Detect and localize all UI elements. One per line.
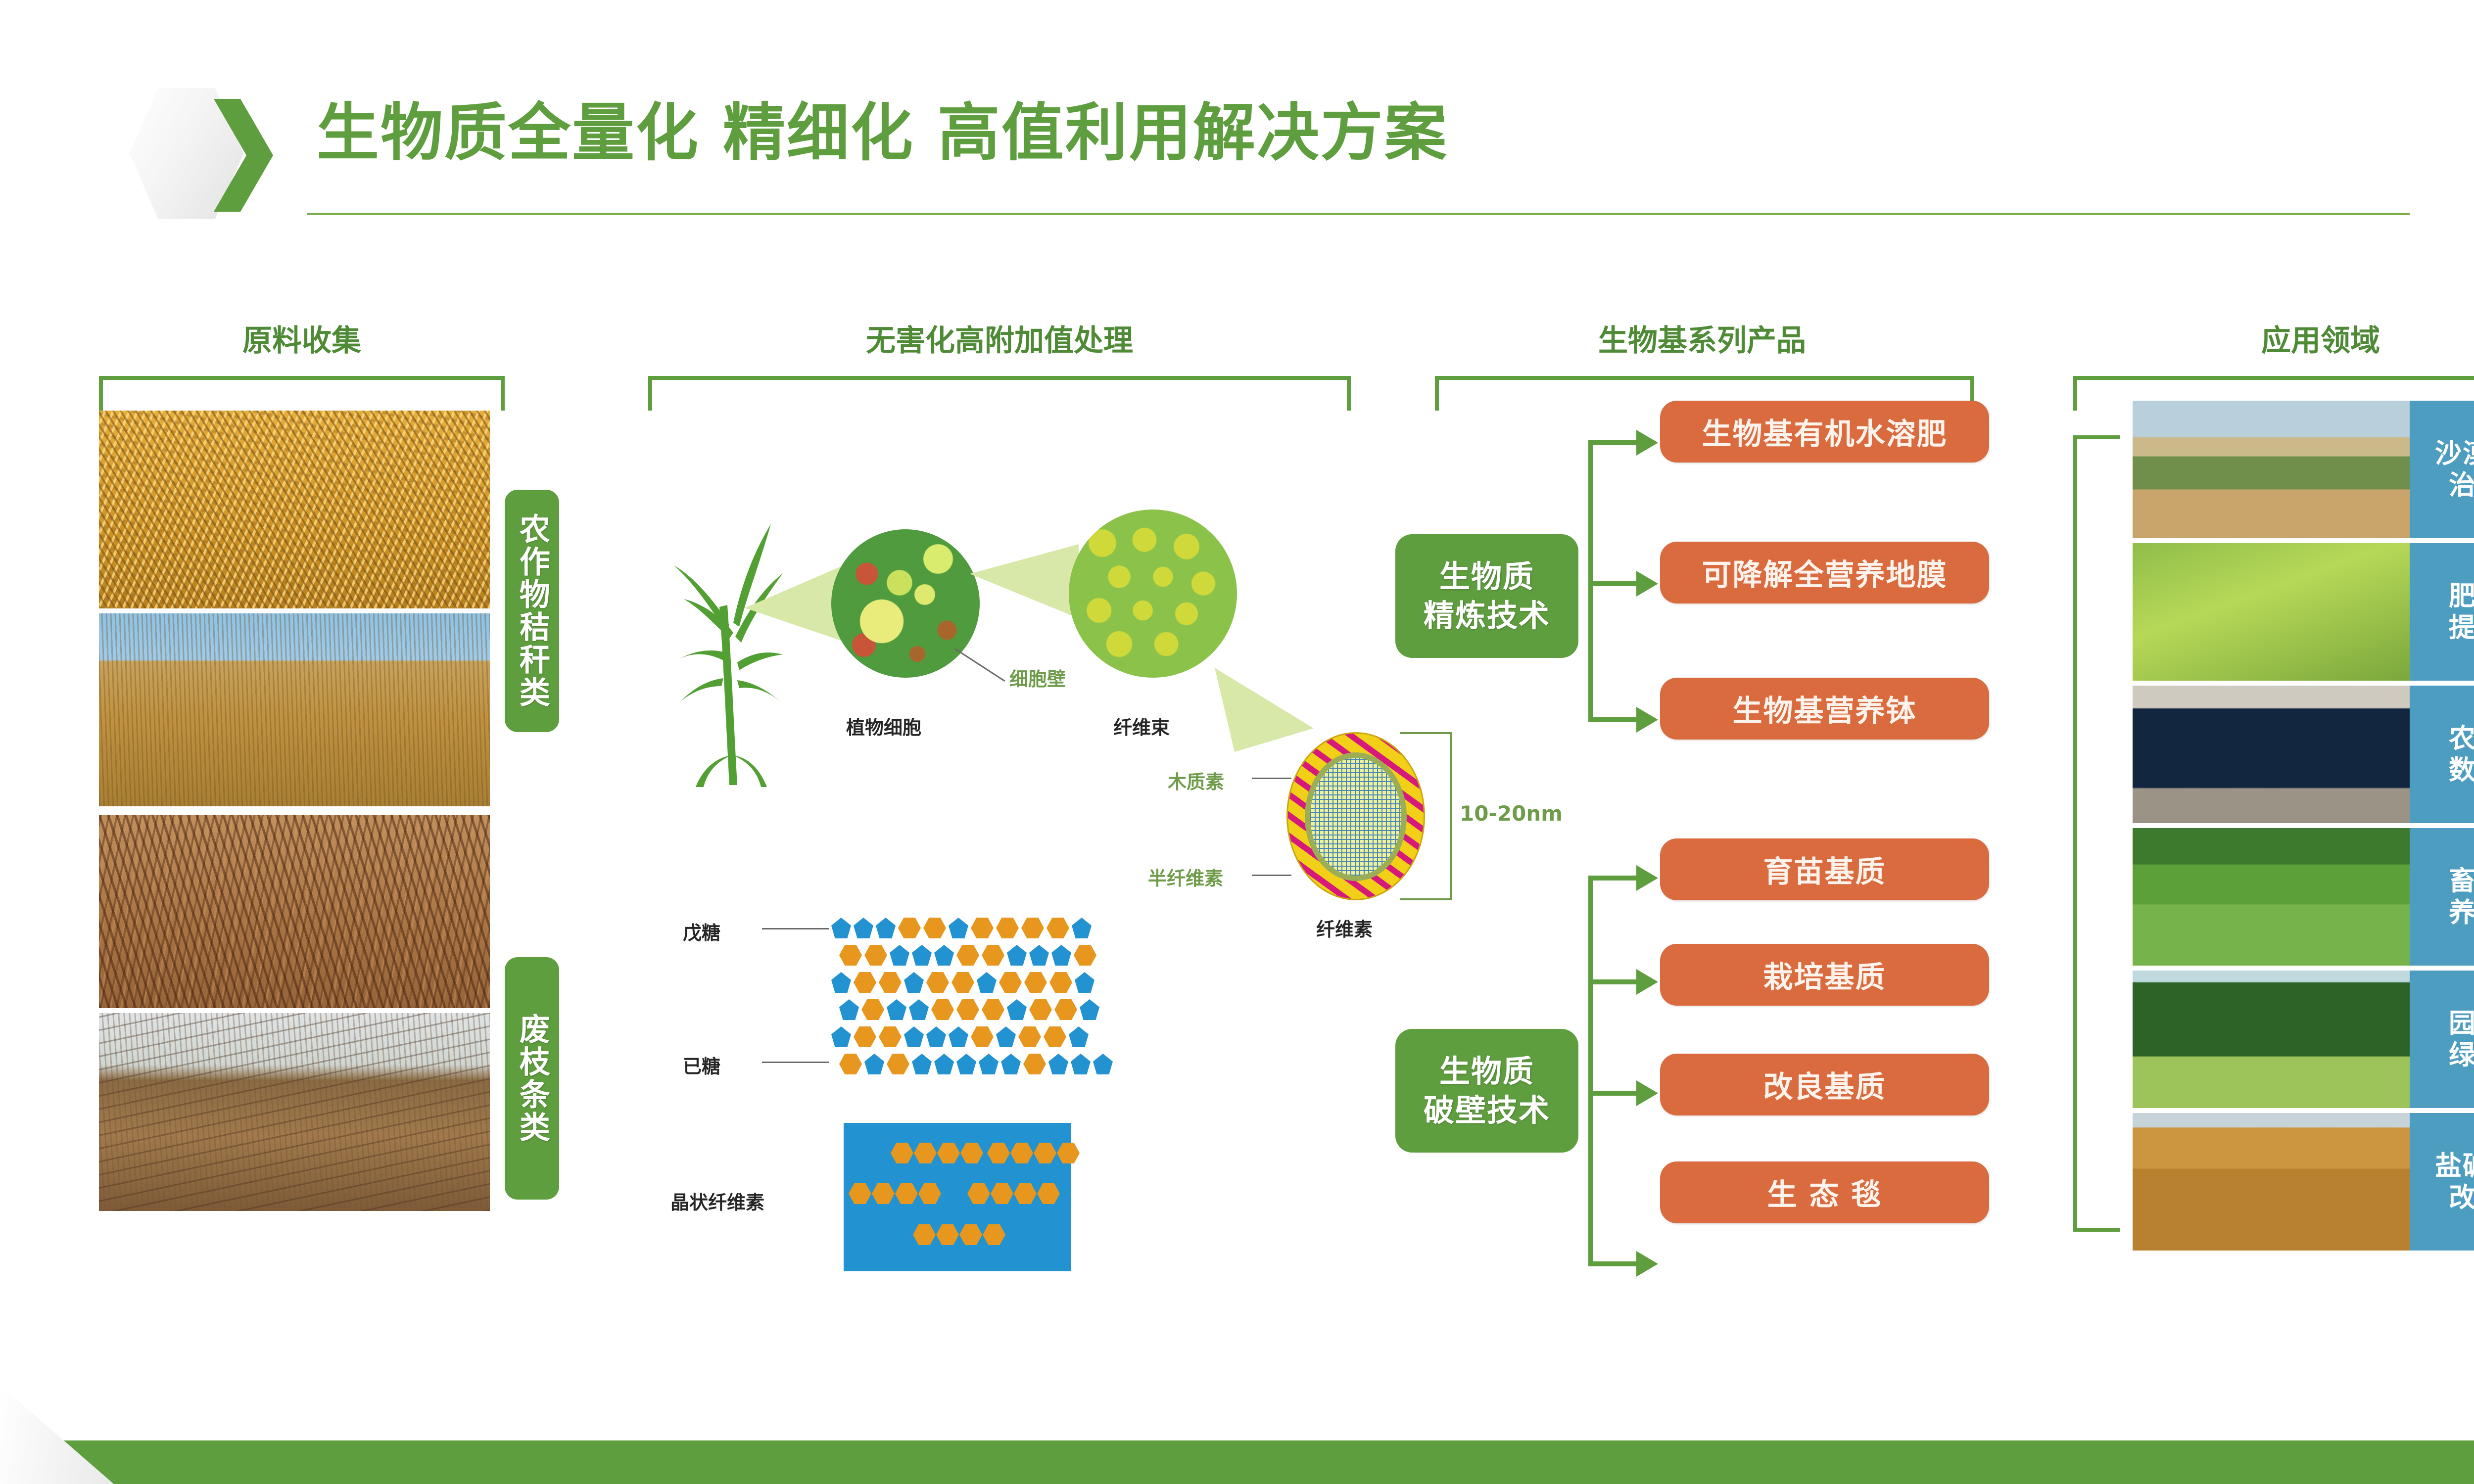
pentose-unit-icon [831, 1026, 851, 1047]
pentose-unit-icon [926, 1026, 946, 1047]
label-cell-wall: 细胞壁 [1009, 664, 1066, 691]
pentose-unit-icon [1007, 945, 1027, 966]
pentose-unit-icon [1001, 1054, 1021, 1074]
connector-branch-wall-1 [1588, 876, 1638, 881]
pentose-unit-icon [1051, 945, 1071, 966]
pentose-unit-icon [909, 999, 929, 1020]
hexose-unit-icon [982, 999, 1004, 1020]
pentose-unit-icon [1075, 972, 1094, 993]
glucose-unit-icon [967, 1183, 990, 1204]
tech-box-biomass-wall-breaking[interactable]: 生物质 破壁技术 [1395, 1029, 1578, 1153]
hexose-unit-icon [1023, 1054, 1046, 1074]
hexose-unit-icon [1029, 999, 1052, 1020]
hexose-unit-icon [887, 1054, 909, 1074]
hexose-unit-icon [952, 972, 974, 993]
pentose-unit-icon [979, 1054, 999, 1074]
glucose-unit-icon [936, 1224, 959, 1245]
magnify-cone-2 [970, 544, 1079, 618]
photo-straw-bale [99, 613, 490, 806]
app-tag-line1: 盐碱地 [2435, 1150, 2474, 1182]
app-tag-line1: 园林 [2449, 1008, 2474, 1039]
application-row-saline-land[interactable]: 盐碱地 改良 [2133, 1113, 2474, 1251]
pentose-unit-icon [956, 1054, 976, 1074]
connector-branch-refining-1 [1588, 440, 1638, 445]
hexose-unit-icon [1049, 972, 1072, 993]
label-plant-cell: 植物细胞 [846, 712, 921, 740]
section-title-products: 生物基系列产品 [1405, 317, 1999, 360]
crystalline-chain-row [913, 1224, 1005, 1245]
tech-box-biomass-refining[interactable]: 生物质 精炼技术 [1395, 534, 1578, 658]
glucose-unit-icon [872, 1183, 895, 1204]
photo-cabbage-field [2133, 543, 2410, 681]
photo-data-control-room [2133, 686, 2410, 823]
glucose-unit-icon [914, 1143, 937, 1163]
process-diagram-column: 细胞壁 植物细胞 纤维束 木质素 半纤维素 纤维素 10-20nm 戊糖 已糖 … [614, 391, 1385, 1331]
pentose-unit-icon [977, 972, 997, 993]
page-title: 生物质全量化 精细化 高值利用解决方案 [317, 99, 1448, 168]
fiber-bundle-illustration [1069, 510, 1237, 678]
pentose-unit-icon [1093, 1054, 1113, 1074]
app-tag-line2: 治理 [2449, 469, 2474, 501]
hexose-unit-icon [982, 945, 1004, 966]
glucose-unit-icon [1014, 1183, 1037, 1204]
hexose-unit-icon [1047, 918, 1069, 938]
hexose-unit-icon [1018, 1026, 1041, 1047]
sugar-chain-row [831, 918, 1092, 938]
pentose-unit-icon [912, 1054, 932, 1074]
connector-branch-refining-3 [1588, 717, 1638, 722]
hexose-unit-icon [1054, 999, 1077, 1020]
section-title-applications: 应用领域 [2073, 317, 2474, 360]
pentose-unit-icon [949, 918, 968, 938]
hexose-unit-icon [926, 972, 949, 993]
pentose-unit-icon [1080, 999, 1099, 1020]
crystalline-chain-row [967, 1183, 1060, 1204]
pentose-unit-icon [864, 1054, 884, 1074]
product-box-biodegradable-mulch-film[interactable]: 可降解全营养地膜 [1660, 542, 1989, 603]
app-tag-line2: 改良 [2449, 1182, 2474, 1213]
glucose-unit-icon [1010, 1143, 1033, 1163]
pentose-leader-line [762, 928, 829, 929]
sugar-chain-row [839, 999, 1099, 1020]
connector-branch-wall-3 [1588, 1091, 1638, 1096]
applications-column: 沙漠化 治理 肥力 提升 农业 数据 畜牧 养殖 园林 绿化 [2073, 391, 2474, 1345]
pentose-unit-icon [1069, 1026, 1089, 1047]
page-header: 生物质全量化 精细化 高值利用解决方案 [0, 0, 2474, 237]
magnify-cone-3 [1215, 668, 1314, 752]
hexose-unit-icon [923, 918, 946, 938]
hexose-unit-icon [931, 999, 954, 1020]
sugar-chain-row [839, 945, 1096, 966]
photo-saline-alkali-land [2133, 1113, 2410, 1251]
hemicellulose-leader-line [1252, 875, 1291, 876]
hexose-unit-icon [1074, 945, 1096, 966]
app-tag-line2: 绿化 [2449, 1039, 2474, 1071]
label-fiber-bundle: 纤维束 [1113, 712, 1170, 740]
app-tag-line1: 畜牧 [2449, 865, 2474, 897]
label-crystalline-cellulose: 晶状纤维素 [670, 1187, 764, 1214]
connector-trunk-wall-breaking [1588, 876, 1593, 1266]
footer-corner-left [0, 1385, 114, 1484]
section-title-raw-material: 原料收集 [99, 317, 505, 360]
application-tag-fertility: 肥力 提升 [2410, 543, 2474, 681]
glucose-unit-icon [1057, 1143, 1080, 1163]
sugar-chain-row [831, 1026, 1089, 1047]
glucose-unit-icon [937, 1143, 960, 1163]
pentose-unit-icon [831, 972, 851, 993]
app-tag-line1: 农业 [2449, 723, 2474, 754]
pentose-unit-icon [890, 945, 909, 966]
arrow-refining-1 [1636, 430, 1658, 456]
glucose-unit-icon [918, 1183, 941, 1204]
glucose-unit-icon [1037, 1183, 1060, 1204]
category-label-waste-branches: 废枝条类 [505, 957, 559, 1200]
arrow-wall-4 [1636, 1251, 1658, 1277]
arrow-refining-3 [1636, 707, 1658, 733]
products-column: 生物质 精炼技术 生物基有机水溶肥 可降解全营养地膜 生物基营养钵 生物质 破壁… [1395, 391, 2004, 1355]
crystalline-chain-row [849, 1183, 941, 1204]
hexose-unit-icon [971, 1026, 994, 1047]
pentose-unit-icon [912, 945, 932, 966]
app-tag-line2: 养殖 [2449, 897, 2474, 928]
hexose-unit-icon [879, 972, 902, 993]
pentose-unit-icon [1048, 1054, 1068, 1074]
pentose-unit-icon [887, 999, 906, 1020]
sugar-chain-illustration [831, 918, 1064, 1081]
photo-park-greenery [2133, 971, 2410, 1108]
hexose-leader-line [762, 1062, 829, 1063]
product-box-cultivation-substrate[interactable]: 栽培基质 [1660, 944, 1989, 1006]
title-divider [307, 213, 2410, 215]
glucose-unit-icon [991, 1183, 1013, 1204]
pentose-unit-icon [1071, 1054, 1091, 1074]
crystalline-chain-row [987, 1143, 1080, 1163]
hexose-unit-icon [839, 945, 862, 966]
pentose-unit-icon [854, 918, 873, 938]
footer-bar [0, 1440, 2474, 1484]
hexose-unit-icon [956, 999, 979, 1020]
pentose-unit-icon [1072, 918, 1092, 938]
photo-grazing-sheep [2133, 828, 2410, 966]
hexose-unit-icon [999, 972, 1022, 993]
hexose-unit-icon [996, 918, 1019, 938]
pentose-unit-icon [934, 945, 954, 966]
application-tag-landscaping: 园林 绿化 [2410, 971, 2474, 1108]
crystalline-chain-row [891, 1143, 983, 1163]
pentose-unit-icon [839, 999, 859, 1020]
hexose-unit-icon [839, 1054, 862, 1074]
pentose-unit-icon [1007, 999, 1027, 1020]
plant-illustration-icon [668, 512, 797, 789]
photo-crop-straw-field [99, 411, 490, 608]
glucose-unit-icon [987, 1143, 1010, 1163]
application-tag-livestock: 畜牧 养殖 [2410, 828, 2474, 966]
hexose-unit-icon [1024, 972, 1047, 993]
connector-branch-wall-4 [1588, 1261, 1638, 1266]
pentose-unit-icon [876, 918, 896, 938]
glucose-unit-icon [983, 1224, 1005, 1245]
pentose-unit-icon [904, 972, 924, 993]
application-row-livestock[interactable]: 畜牧 养殖 [2133, 828, 2474, 966]
crystalline-cellulose-illustration [844, 1123, 1071, 1271]
label-cellulose: 纤维素 [1316, 914, 1373, 941]
sugar-chain-row [839, 1054, 1113, 1074]
tech-label-line2: 破壁技术 [1424, 1091, 1550, 1130]
raw-material-column: 农作物秸秆类 废枝条类 [99, 396, 505, 1341]
connector-branch-wall-2 [1588, 979, 1638, 984]
glucose-unit-icon [913, 1224, 936, 1245]
label-hemicellulose: 半纤维素 [1148, 863, 1223, 890]
product-box-ecological-blanket[interactable]: 生 态 毯 [1660, 1161, 1989, 1223]
pentose-unit-icon [1029, 945, 1049, 966]
arrow-wall-1 [1636, 865, 1658, 891]
bracket-applications-left [2073, 435, 2120, 1232]
glucose-unit-icon [960, 1143, 983, 1163]
application-row-desertification[interactable]: 沙漠化 治理 [2133, 401, 2474, 538]
hexose-unit-icon [854, 972, 876, 993]
label-lignin: 木质素 [1168, 767, 1224, 794]
photo-desert-control [2133, 401, 2410, 538]
glucose-unit-icon [895, 1183, 918, 1204]
category-label-crop-straw: 农作物秸秆类 [505, 490, 559, 732]
app-tag-line1: 肥力 [2449, 580, 2474, 612]
product-box-water-soluble-fertilizer[interactable]: 生物基有机水溶肥 [1660, 401, 1989, 463]
lignin-leader-line [1252, 778, 1291, 779]
photo-orchard-pruning [99, 1013, 490, 1211]
arrow-refining-2 [1636, 571, 1658, 597]
application-row-landscaping[interactable]: 园林 绿化 [2133, 971, 2474, 1108]
app-tag-line2: 数据 [2449, 754, 2474, 786]
tech-label-line1: 生物质 [1439, 557, 1534, 596]
arrow-wall-3 [1636, 1080, 1658, 1106]
application-tag-saline-land: 盐碱地 改良 [2410, 1113, 2474, 1251]
hexose-unit-icon [879, 1026, 902, 1047]
pentose-unit-icon [934, 1054, 954, 1074]
hexose-unit-icon [861, 999, 884, 1020]
arrow-wall-2 [1636, 969, 1658, 995]
connector-branch-refining-2 [1588, 581, 1638, 586]
sugar-chain-row [831, 972, 1094, 993]
application-row-fertility[interactable]: 肥力 提升 [2133, 543, 2474, 681]
glucose-unit-icon [849, 1183, 871, 1204]
glucose-unit-icon [891, 1143, 913, 1163]
hexose-unit-icon [864, 945, 887, 966]
glucose-unit-icon [1034, 1143, 1056, 1163]
application-tag-desertification: 沙漠化 治理 [2410, 401, 2474, 538]
product-box-seedling-substrate[interactable]: 育苗基质 [1660, 838, 1989, 900]
cellulose-core-illustration [1310, 758, 1401, 876]
app-tag-line2: 提升 [2449, 612, 2474, 644]
section-title-processing: 无害化高附加值处理 [614, 317, 1385, 360]
glucose-unit-icon [959, 1224, 982, 1245]
application-tag-agri-data: 农业 数据 [2410, 686, 2474, 823]
tech-label-line1: 生物质 [1439, 1052, 1534, 1091]
pentose-unit-icon [831, 918, 851, 938]
label-hexose: 已糖 [683, 1051, 720, 1078]
plant-cell-illustration [831, 529, 980, 678]
hexose-unit-icon [898, 918, 921, 938]
pentose-unit-icon [949, 1026, 968, 1047]
application-row-agri-data[interactable]: 农业 数据 [2133, 686, 2474, 823]
hexose-unit-icon [971, 918, 994, 938]
hexose-unit-icon [1044, 1026, 1066, 1047]
product-box-improvement-substrate[interactable]: 改良基质 [1660, 1054, 1989, 1115]
label-pentose: 戊糖 [683, 918, 720, 945]
hexose-unit-icon [956, 945, 979, 966]
photo-pruned-branches [99, 815, 490, 1008]
tech-label-line2: 精炼技术 [1424, 596, 1550, 635]
cell-wall-leader-line [954, 648, 1005, 682]
product-box-bio-nutrient-pot[interactable]: 生物基营养钵 [1660, 678, 1989, 740]
hexose-unit-icon [1021, 918, 1044, 938]
pentose-unit-icon [904, 1026, 924, 1047]
app-tag-line1: 沙漠化 [2435, 438, 2474, 469]
hexose-unit-icon [854, 1026, 876, 1047]
pentose-unit-icon [996, 1026, 1016, 1047]
